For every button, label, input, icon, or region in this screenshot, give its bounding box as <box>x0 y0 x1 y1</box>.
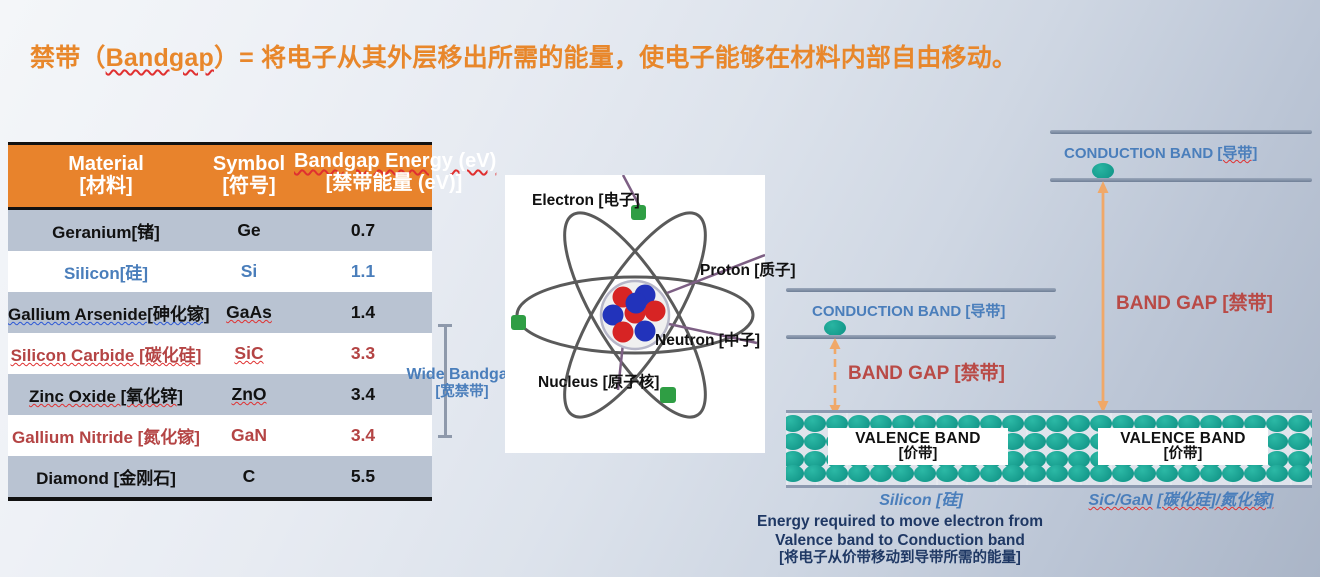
material-name-en: Silicon <box>879 492 931 509</box>
valence-electron-circle <box>1024 415 1046 432</box>
valence-electron-circle <box>1050 415 1068 432</box>
conduction-band-upper-line <box>786 288 1056 292</box>
valence-electron-circle <box>786 415 804 432</box>
valence-electron-circle <box>1156 465 1178 482</box>
cell-energy: 5.5 <box>294 456 432 499</box>
slide-canvas: 禁带（Bandgap）= 将电子从其外层移出所需的能量，使电子能够在材料内部自由… <box>0 0 1320 577</box>
valence-band-label-zh: [价带] <box>1108 447 1258 463</box>
atom-illustration <box>505 175 765 453</box>
title-bandgap-term: Bandgap <box>106 44 214 72</box>
cell-symbol: SiC <box>204 333 294 374</box>
materials-table: Material [材料] Symbol [符号] Bandgap Energy… <box>8 142 432 501</box>
bottom-caption: Energy required to move electron from Va… <box>680 513 1120 568</box>
caption-line-3: [将电子从价带移动到导带所需的能量] <box>680 550 1120 567</box>
marker-cap-top <box>438 324 452 327</box>
band-gap-label: BAND GAP [禁带] <box>848 358 1005 385</box>
valence-electron-circle <box>1222 465 1244 482</box>
valence-electron-circle <box>892 465 914 482</box>
conduction-band-upper-line <box>1050 130 1312 134</box>
material-name-en: SiC/GaN <box>1089 492 1153 509</box>
table-row[interactable]: Silicon[硅] Si 1.1 <box>8 251 432 292</box>
valence-row <box>1050 465 1312 482</box>
valence-electron-circle <box>1050 433 1068 450</box>
valence-electron-circle <box>958 465 980 482</box>
atom-label-electron: Electron [电子] <box>532 188 640 210</box>
band-gap-arrow <box>828 338 842 416</box>
cell-energy: 3.4 <box>294 415 432 456</box>
valence-electron-circle <box>826 465 848 482</box>
table-row[interactable]: Silicon Carbide [碳化硅] SiC 3.3 <box>8 333 432 374</box>
material-name-zh: [硅] <box>936 492 963 509</box>
cell-symbol: GaAs <box>204 292 294 333</box>
band-gap-label-en: BAND GAP <box>1116 293 1217 314</box>
table-row[interactable]: Zinc Oxide [氧化锌] ZnO 3.4 <box>8 374 432 415</box>
valence-electron-circle <box>1266 415 1288 432</box>
valence-electron-circle <box>1288 415 1310 432</box>
material-name-sic-gan: SiC/GaN [碳化硅]/氮化镓] <box>1050 486 1312 510</box>
band-gap-label: BAND GAP [禁带] <box>1116 288 1273 315</box>
valence-electron-circle <box>786 433 804 450</box>
atom-label-proton: Proton [质子] <box>700 258 796 280</box>
band-diagram-silicon: CONDUCTION BAND [导带] BAND GAP [禁带] VALEN… <box>786 288 1056 508</box>
header-material-zh: [材料] <box>8 176 204 198</box>
header-material: Material [材料] <box>8 144 204 209</box>
valence-electron-circle <box>1244 465 1266 482</box>
conduction-electron-dot <box>1092 163 1114 179</box>
conduction-band-lower-line <box>1050 178 1312 182</box>
valence-electron-circle <box>1068 465 1090 482</box>
cell-energy: 1.4 <box>294 292 432 333</box>
cell-symbol: Si <box>204 251 294 292</box>
atom-diagram-panel <box>505 175 765 453</box>
valence-electron-circle <box>804 465 826 482</box>
valence-row <box>786 465 1056 482</box>
valence-electron-circle <box>804 415 826 432</box>
valence-band-label-en: VALENCE BAND <box>1108 430 1258 447</box>
caption-line-1: Energy required to move electron from <box>680 513 1120 532</box>
valence-electron-circle <box>848 465 870 482</box>
valence-band-label: VALENCE BAND [价带] <box>1098 428 1268 465</box>
band-gap-label-en: BAND GAP <box>848 363 949 384</box>
cell-energy: 1.1 <box>294 251 432 292</box>
material-name-silicon: Silicon [硅] <box>786 486 1056 510</box>
title-prefix: 禁带（ <box>30 44 106 72</box>
valence-band-label-zh: [价带] <box>838 447 998 463</box>
table-row[interactable]: Diamond [金刚石] C 5.5 <box>8 456 432 499</box>
valence-electron-circle <box>786 465 804 482</box>
header-energy-en: Bandgap Energy (eV) <box>294 151 494 173</box>
header-energy: Bandgap Energy (eV) [禁带能量 (eV)] <box>294 144 432 209</box>
valence-electron-circle <box>1310 415 1312 432</box>
valence-electron-circle <box>1090 465 1112 482</box>
atom-label-neutron: Neutron [中子] <box>655 328 760 350</box>
valence-electron-circle <box>1002 465 1024 482</box>
valence-electron-circle <box>1068 433 1090 450</box>
cell-material: Geranium[锗] <box>8 209 204 252</box>
table-header-row: Material [材料] Symbol [符号] Bandgap Energy… <box>8 144 432 209</box>
header-material-en: Material <box>8 154 204 176</box>
conduction-electron-dot <box>824 320 846 336</box>
valence-electron-circle <box>936 465 958 482</box>
cell-material: Diamond [金刚石] <box>8 456 204 499</box>
valence-electron-circle <box>1310 465 1312 482</box>
cell-material: Silicon[硅] <box>8 251 204 292</box>
band-gap-label-zh: [禁带] <box>954 363 1005 384</box>
valence-band-label-en: VALENCE BAND <box>838 430 998 447</box>
header-symbol: Symbol [符号] <box>204 144 294 209</box>
valence-electron-circle <box>1068 415 1090 432</box>
cell-symbol: ZnO <box>204 374 294 415</box>
table-row[interactable]: Gallium Nitride [氮化镓] GaN 3.4 <box>8 415 432 456</box>
conduction-band-lower-line <box>786 335 1056 339</box>
conduction-band-label-zh: [导带] <box>965 303 1005 320</box>
table-row[interactable]: Geranium[锗] Ge 0.7 <box>8 209 432 252</box>
cell-symbol: C <box>204 456 294 499</box>
cell-material: Zinc Oxide [氧化锌] <box>8 374 204 415</box>
band-gap-arrow <box>1096 181 1110 413</box>
valence-electron-circle <box>1024 433 1046 450</box>
marker-cap-bottom <box>438 435 452 438</box>
conduction-band-label-en: CONDUCTION BAND <box>812 303 961 320</box>
page-title: 禁带（Bandgap）= 将电子从其外层移出所需的能量，使电子能够在材料内部自由… <box>30 38 1300 74</box>
table-row[interactable]: Gallium Arsenide[砷化镓] GaAs 1.4 <box>8 292 432 333</box>
valence-electron-circle <box>870 465 892 482</box>
valence-electron-circle <box>1266 465 1288 482</box>
valence-electron-circle <box>914 465 936 482</box>
valence-electron-circle <box>980 465 1002 482</box>
header-energy-block: Bandgap Energy (eV) [禁带能量 (eV)] <box>294 151 494 194</box>
cell-material: Gallium Arsenide[砷化镓] <box>8 292 204 333</box>
caption-line-2: Valence band to Conduction band <box>680 532 1120 551</box>
valence-electron-circle <box>1112 465 1134 482</box>
valence-electron-circle <box>1266 433 1288 450</box>
conduction-band-label-en: CONDUCTION BAND <box>1064 145 1213 162</box>
valence-electron-circle <box>1134 465 1156 482</box>
band-diagram-sic-gan: CONDUCTION BAND [导带] BAND GAP [禁带] VALEN… <box>1050 130 1312 508</box>
valence-electron-circle <box>1288 433 1310 450</box>
cell-material: Gallium Nitride [氮化镓] <box>8 415 204 456</box>
conduction-band-label: CONDUCTION BAND [导带] <box>1064 142 1257 163</box>
cell-symbol: Ge <box>204 209 294 252</box>
cell-material: Silicon Carbide [碳化硅] <box>8 333 204 374</box>
cell-energy: 0.7 <box>294 209 432 252</box>
header-symbol-zh: [符号] <box>204 176 294 198</box>
header-symbol-en: Symbol <box>204 154 294 176</box>
band-gap-label-zh: [禁带] <box>1222 293 1273 314</box>
header-energy-zh: [禁带能量 (eV)] <box>294 173 494 195</box>
cell-symbol: GaN <box>204 415 294 456</box>
valence-electron-circle <box>804 433 826 450</box>
title-suffix: ）= 将电子从其外层移出所需的能量，使电子能够在材料内部自由移动。 <box>214 44 1017 72</box>
valence-electron-circle <box>1050 465 1068 482</box>
valence-electron-circle <box>1200 465 1222 482</box>
valence-electron-circle <box>1310 433 1312 450</box>
atom-label-nucleus: Nucleus [原子核] <box>538 370 659 392</box>
conduction-band-label: CONDUCTION BAND [导带] <box>812 300 1005 321</box>
valence-electron-circle <box>1288 465 1310 482</box>
materials-table-wrapper: Material [材料] Symbol [符号] Bandgap Energy… <box>8 142 432 501</box>
valence-electron-circle <box>1024 465 1046 482</box>
material-name-zh: [碳化硅]/氮化镓] <box>1157 492 1273 509</box>
conduction-band-label-zh: [导带] <box>1217 145 1257 162</box>
valence-electron-circle <box>1178 465 1200 482</box>
valence-band-label: VALENCE BAND [价带] <box>828 428 1008 465</box>
